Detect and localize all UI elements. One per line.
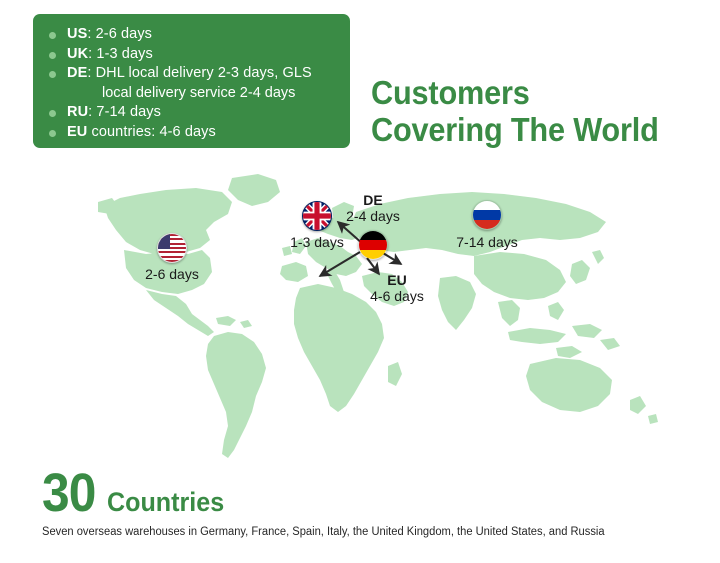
marker-de-title: DE (334, 192, 412, 208)
shipping-country-code: UK (67, 46, 88, 62)
footer: 30 Countries Seven overseas warehouses i… (42, 468, 622, 539)
uk-flag-icon (302, 201, 332, 231)
marker-ru-days: 7-14 days (456, 234, 517, 250)
shipping-row-ru: RU: 7-14 days (47, 103, 340, 123)
infographic-page: US: 2-6 days UK: 1-3 days DE: DHL local … (0, 0, 720, 563)
marker-ru-label: 7-14 days (445, 234, 529, 250)
world-map: 2-6 days 1-3 days (0, 168, 720, 468)
marker-uk-label: 1-3 days (269, 234, 365, 250)
marker-de[interactable]: DE 2-4 days (358, 230, 388, 260)
shipping-row-text: : 1-3 days (88, 46, 153, 62)
ru-flag-icon (472, 200, 502, 230)
shipping-country-code: DE (67, 65, 87, 81)
country-count-line: 30 Countries (42, 468, 622, 518)
marker-eu-title: EU (360, 272, 434, 288)
shipping-row-de: DE: DHL local delivery 2-3 days, GLS (47, 64, 340, 84)
shipping-row-text: countries: 4-6 days (87, 124, 216, 140)
country-count-word: Countries (107, 488, 224, 516)
marker-de-days: 2-4 days (346, 208, 400, 224)
shipping-row-us: US: 2-6 days (47, 25, 340, 45)
marker-de-label: DE 2-4 days (334, 192, 412, 224)
shipping-row-text: : DHL local delivery 2-3 days, GLS (87, 65, 311, 81)
shipping-country-code: US (67, 26, 87, 42)
shipping-row-uk: UK: 1-3 days (47, 45, 340, 65)
marker-eu-days: 4-6 days (370, 288, 424, 304)
shipping-row-text: : 7-14 days (88, 104, 161, 120)
marker-ru[interactable]: 7-14 days (472, 200, 502, 230)
marker-us-days: 2-6 days (145, 266, 199, 282)
bullet-icon (49, 71, 56, 78)
us-flag-icon (157, 233, 187, 263)
de-flag-icon (358, 230, 388, 260)
marker-eu-label: EU 4-6 days (360, 272, 434, 304)
shipping-row-eu: EU countries: 4-6 days (47, 123, 340, 143)
marker-uk-days: 1-3 days (290, 234, 344, 250)
shipping-row-de-continuation: local delivery service 2-4 days (47, 84, 340, 104)
shipping-info-box: US: 2-6 days UK: 1-3 days DE: DHL local … (33, 14, 350, 148)
bullet-icon (49, 32, 56, 39)
bullet-icon (49, 52, 56, 59)
marker-us[interactable]: 2-6 days (157, 233, 187, 263)
page-title: Customers Covering The World (371, 74, 678, 148)
footer-note: Seven overseas warehouses in Germany, Fr… (42, 525, 605, 539)
marker-uk[interactable]: 1-3 days (302, 201, 332, 231)
shipping-country-code: RU (67, 104, 88, 120)
country-count-number: 30 (42, 468, 95, 518)
page-title-line-1: Customers (371, 74, 678, 111)
shipping-country-code: EU (67, 124, 87, 140)
page-title-line-2: Covering The World (371, 111, 678, 148)
bullet-icon (49, 130, 56, 137)
marker-us-label: 2-6 days (127, 266, 217, 282)
bullet-icon (49, 110, 56, 117)
shipping-row-text: : 2-6 days (87, 26, 152, 42)
